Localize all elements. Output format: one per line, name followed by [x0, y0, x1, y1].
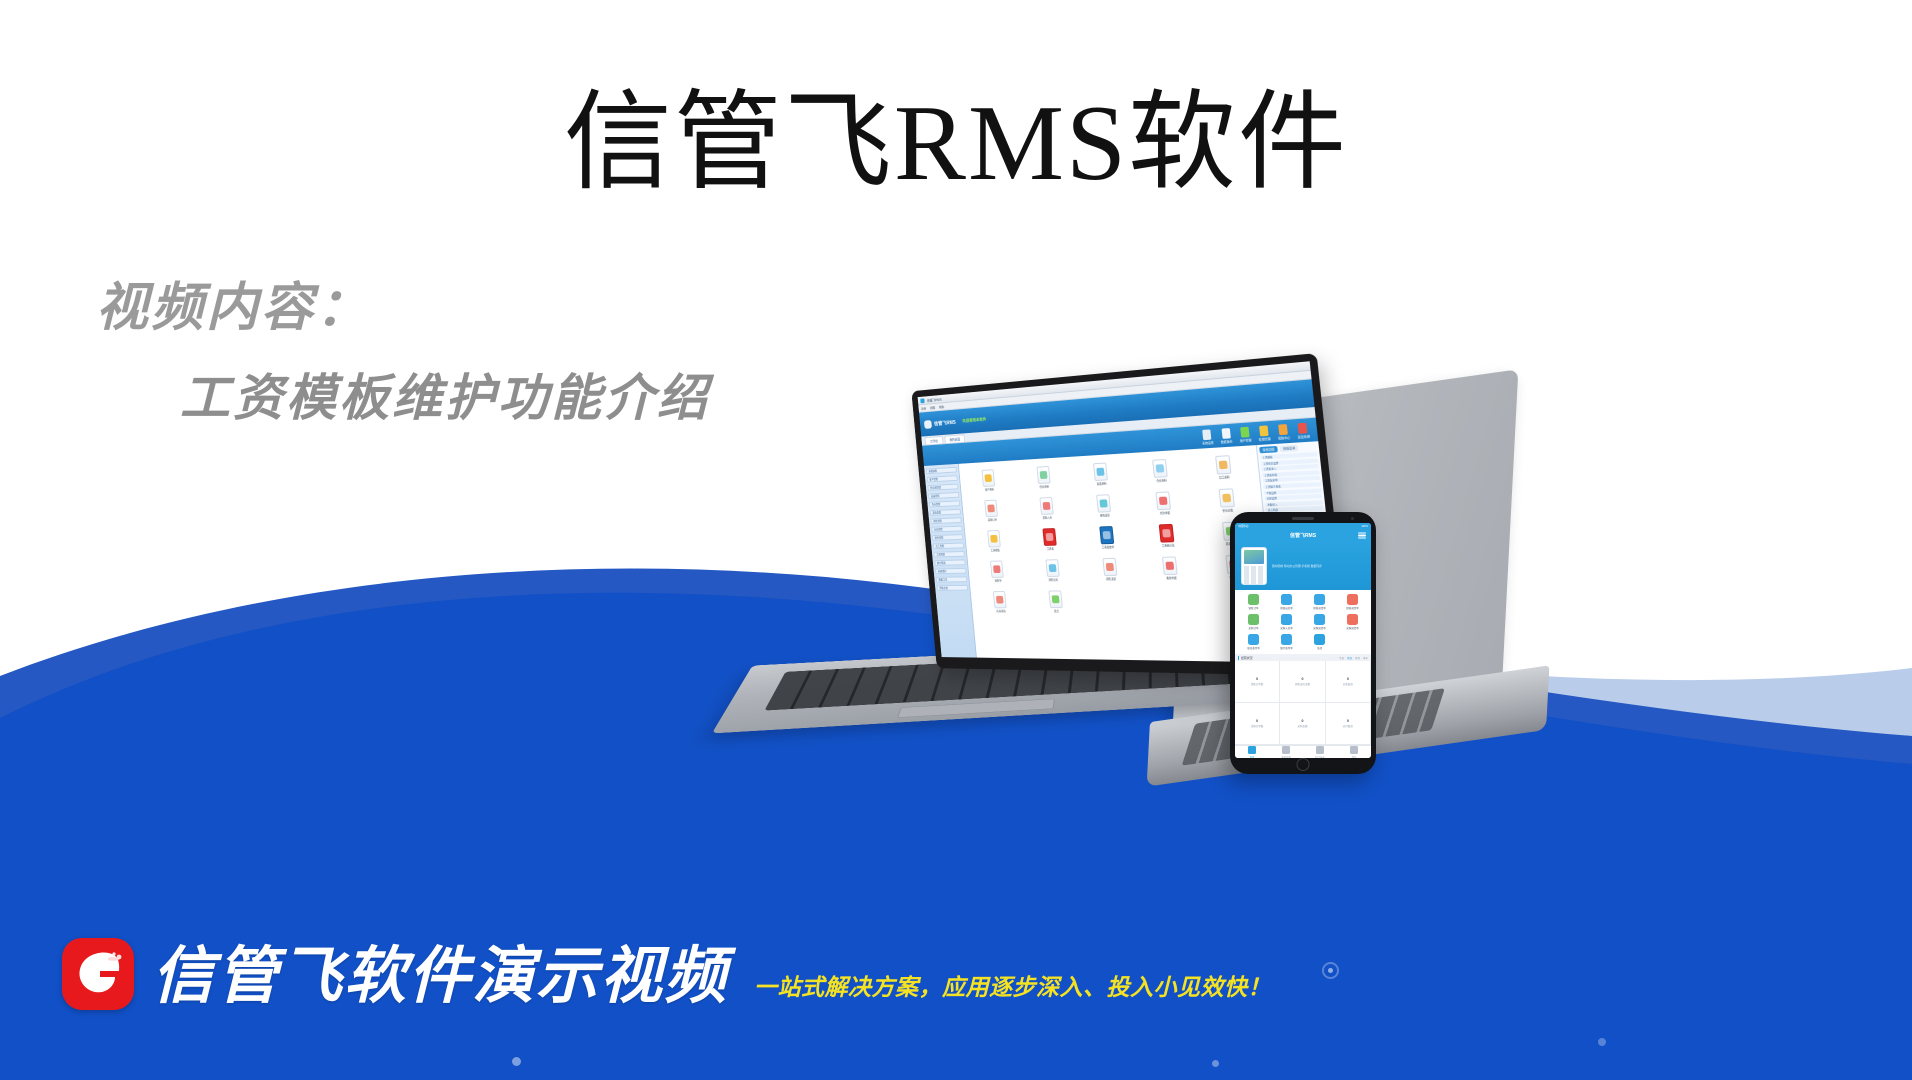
home-icon: [1248, 746, 1256, 754]
bank-icon: [1281, 634, 1292, 645]
filter-option[interactable]: 本年: [1363, 656, 1368, 660]
footer-brand-bar: 信管飞软件演示视频 一站式解决方案，应用逐步深入、投入小见效快！: [62, 938, 1271, 1018]
gear-icon: [1202, 429, 1211, 440]
toolbar-button[interactable]: 退出系统: [1296, 422, 1310, 439]
phone-shortcut[interactable]: 采购退货单: [1336, 614, 1369, 630]
shortcut-label: 全部: [1317, 646, 1322, 650]
app-grid-icon[interactable]: 工资发放单: [1079, 525, 1136, 550]
app-grid-icon[interactable]: 仓库资料: [1131, 458, 1191, 484]
banner-phone-illustration-icon: [1241, 547, 1267, 585]
nav-item-profile[interactable]: 我的: [1337, 746, 1371, 759]
purchase-order-icon: [1248, 614, 1259, 625]
phone-shortcut[interactable]: 销售出库单: [1270, 594, 1303, 610]
app-logo-icon: [924, 420, 932, 429]
chart-bar-icon: [1316, 746, 1324, 754]
stat-label: 销售订单数: [1251, 682, 1264, 686]
toolbar-label: 数据备份: [1221, 439, 1233, 444]
sidebar-item[interactable]: 基础资料: [926, 467, 957, 474]
sidebar-item[interactable]: 商品管理: [928, 492, 959, 499]
phone-stats-grid: 0销售订单数 0销售出库金额 0应收账款 0采购订单数 0采购金额 0应付账款: [1235, 661, 1371, 745]
stat-value: 0: [1256, 719, 1258, 723]
phone-screen: 中国移动 100% 信管飞RMS 随时随地 移动办公管理 手机端 数据同步 销售…: [1235, 523, 1371, 758]
shortcut-label: 销售退货单: [1313, 606, 1326, 610]
app-grid-icon[interactable]: 工资模板: [968, 529, 1020, 552]
phone-banner: 随时随地 移动办公管理 手机端 数据同步: [1235, 542, 1371, 590]
grid-all-icon: [1314, 634, 1325, 645]
shortcut-label: 采购订单: [1248, 626, 1258, 630]
stat-cell[interactable]: 0应付账款: [1326, 703, 1371, 745]
sidebar-item[interactable]: 销售管理: [930, 517, 961, 524]
user-icon: [1350, 746, 1358, 754]
filter-option-active[interactable]: 本周: [1347, 656, 1352, 660]
app-grid-icon[interactable]: 商品资料: [1072, 461, 1129, 487]
sidebar-item[interactable]: 帮助文档: [937, 585, 968, 591]
shortcut-label: 采购退货单: [1346, 626, 1359, 630]
sidebar-item[interactable]: 仓库管理: [929, 500, 960, 507]
return-icon: [1314, 594, 1325, 605]
sidebar-item[interactable]: 工资管理: [934, 551, 965, 557]
grid-icon-label: 采购入库: [1042, 515, 1052, 519]
grid-icon-label: 采购订单: [988, 518, 997, 522]
app-grid-icon[interactable]: 采购订单: [966, 499, 1018, 523]
video-content-item: 工资模板维护功能介绍: [180, 367, 710, 430]
app-grid-icon[interactable]: 库存查询: [974, 591, 1027, 613]
shortcut-label: 现金收付单: [1247, 646, 1260, 650]
app-tab[interactable]: 我的桌面: [944, 434, 965, 443]
nav-label: 统计报表: [1315, 755, 1325, 759]
documents-icon: [1282, 746, 1290, 754]
app-brand-name: 信管飞RMS: [934, 419, 956, 427]
exit-icon: [1298, 422, 1308, 433]
toolbar-label: 退出系统: [1297, 434, 1310, 439]
toolbar-button[interactable]: 系统设置: [1201, 429, 1214, 445]
smartphone-device: 中国移动 100% 信管飞RMS 随时随地 移动办公管理 手机端 数据同步 销售…: [1230, 512, 1376, 774]
grid-icon-label: 采购退货: [1100, 513, 1110, 517]
phone-shortcut-grid: 销售订单 销售出库单 销售退货单 销售退货单 采购订单 采购入库单 采购退货单 …: [1235, 590, 1371, 654]
shortcut-label: 销售订单: [1248, 606, 1258, 610]
grid-icon-label: 销售出库: [1048, 578, 1058, 582]
app-menu-item[interactable]: 系统: [921, 406, 926, 410]
sidebar-item[interactable]: 员工管理: [933, 543, 964, 550]
app-tab[interactable]: 工作台: [925, 436, 943, 445]
app-grid-icon[interactable]: 收款单据: [1141, 556, 1201, 581]
stat-label: 销售出库金额: [1295, 682, 1310, 686]
grid-icon-label: 工资统计表: [1162, 543, 1175, 547]
grid-icon-label: 仓库资料: [1156, 478, 1167, 483]
grid-icon-label: 库存查询: [996, 609, 1005, 613]
users-icon: [1240, 426, 1249, 437]
refund-icon: [1347, 594, 1358, 605]
stat-value: 0: [1347, 677, 1349, 681]
grid-icon-label: 供应对账: [1222, 508, 1233, 513]
sidebar-item[interactable]: 统计报表: [934, 559, 965, 565]
cash-icon: [1248, 634, 1259, 645]
shortcut-label: 采购入库单: [1280, 626, 1293, 630]
toolbar-label: 权限管理: [1259, 436, 1271, 441]
stat-value: 0: [1301, 719, 1303, 723]
sidebar-item[interactable]: 数据工具: [936, 576, 967, 582]
grid-icon-label: 付款单据: [1160, 511, 1171, 515]
phone-shortcut[interactable]: 银行收付单: [1270, 634, 1303, 650]
stat-label: 应收账款: [1343, 682, 1353, 686]
toolbar-label: 系统设置: [1202, 440, 1214, 445]
right-panel-tab[interactable]: 快捷菜单: [1280, 445, 1299, 452]
app-grid-icon[interactable]: 销售退货: [1082, 557, 1139, 581]
filter-option[interactable]: 今日: [1339, 656, 1344, 660]
nav-item-reports[interactable]: 统计报表: [1303, 746, 1337, 759]
sidebar-item[interactable]: 供应商管理: [927, 484, 958, 491]
app-grid-icon[interactable]: 销售单: [971, 560, 1024, 583]
slide-title: 信管飞RMS软件: [0, 84, 1912, 205]
brand-title: 信管飞软件演示视频: [152, 946, 728, 1008]
app-grid-icon[interactable]: 员工资料: [1192, 454, 1255, 481]
section-filters[interactable]: 今日 本周 本月 本年: [1339, 656, 1368, 660]
app-grid-icon[interactable]: 客户资料: [963, 468, 1015, 493]
inbound-icon: [1281, 614, 1292, 625]
help-icon: [1278, 423, 1288, 434]
toolbar-button[interactable]: 数据备份: [1219, 427, 1232, 443]
brand-bird-logo-icon: [62, 938, 134, 1010]
phone-app-header: 信管飞RMS: [1235, 529, 1371, 542]
nav-item-documents[interactable]: 单据管理: [1269, 746, 1303, 759]
stat-value: 0: [1256, 677, 1258, 681]
phone-bottom-nav[interactable]: 首页 单据管理 统计报表 我的: [1235, 745, 1371, 758]
app-grid-icon[interactable]: 工资统计表: [1137, 523, 1197, 548]
nav-label: 单据管理: [1281, 755, 1291, 759]
toolbar-label: 用户管理: [1239, 438, 1251, 443]
stat-cell[interactable]: 0销售出库金额: [1280, 661, 1325, 703]
app-grid-icon[interactable]: 工资表: [1022, 527, 1077, 551]
sidebar-item[interactable]: 财务管理: [932, 534, 963, 541]
phone-section-header: 经营状况 今日 本周 本月 本年: [1235, 654, 1371, 661]
app-grid-icon[interactable]: 供应商料: [1016, 465, 1071, 490]
grid-icon-label: 供应商料: [1039, 484, 1049, 488]
shortcut-label: 银行收付单: [1280, 646, 1293, 650]
grid-icon-label: 客户资料: [985, 487, 994, 491]
decorative-dot-icon: [1598, 1038, 1606, 1046]
hamburger-menu-icon[interactable]: [1358, 532, 1366, 539]
section-title: 经营状况: [1238, 656, 1253, 660]
sidebar-item[interactable]: 采购管理: [930, 509, 961, 516]
phone-shortcut[interactable]: 销售退货单: [1336, 594, 1369, 610]
app-grid-icon[interactable]: 供应对账: [1196, 487, 1259, 513]
sidebar-item[interactable]: 系统维护: [935, 568, 966, 574]
toolbar-button[interactable]: 帮助中心: [1277, 423, 1291, 440]
phone-shortcut[interactable]: 采购入库单: [1270, 614, 1303, 630]
phone-shortcut[interactable]: 现金收付单: [1237, 634, 1270, 650]
shortcut-label: 销售退货单: [1346, 606, 1359, 610]
brand-logo-svg: [62, 938, 134, 1010]
phone-speaker: [1292, 517, 1314, 520]
device-mockup-group: 信管飞RMS 系统 视图 帮助 信管飞RMS 欢迎使用本软件 工作台: [880, 372, 1680, 952]
toolbar-button[interactable]: 权限管理: [1257, 425, 1271, 442]
order-icon: [1248, 594, 1259, 605]
app-grid-icon[interactable]: 付款单据: [1134, 490, 1194, 516]
video-content-label: 视频内容：: [96, 276, 710, 341]
phone-camera-icon: [1351, 517, 1354, 520]
presentation-slide: 信管飞RMS软件 视频内容： 工资模板维护功能介绍 信管飞RMS: [0, 0, 1912, 1080]
filter-option[interactable]: 本月: [1355, 656, 1360, 660]
phone-shortcut[interactable]: 采购退货单: [1303, 614, 1336, 630]
app-brand-note: 欢迎使用本软件: [962, 417, 986, 425]
app-menu-item[interactable]: 帮助: [939, 405, 944, 409]
stat-value: 0: [1301, 677, 1303, 681]
shortcut-label: 采购退货单: [1313, 626, 1326, 630]
app-icon-grid: 客户资料 供应商料 商品资料 仓库资料 员工资料 采购订单 采购入库 采购退货 …: [963, 454, 1269, 613]
decorative-dot-icon: [1212, 1060, 1219, 1067]
app-menu-item[interactable]: 视图: [930, 405, 935, 409]
brand-tagline: 一站式解决方案，应用逐步深入、投入小见效快！: [754, 968, 1271, 1002]
grid-icon-label: 工资表: [1047, 547, 1054, 551]
grid-icon-label: 盘点: [1054, 609, 1059, 613]
grid-icon-label: 收款单据: [1166, 576, 1177, 580]
purchase-return-icon: [1314, 614, 1325, 625]
lock-icon: [1259, 425, 1269, 436]
phone-battery: 100%: [1361, 525, 1368, 528]
stat-cell[interactable]: 0采购金额: [1280, 703, 1325, 745]
nav-label: 首页: [1250, 755, 1255, 759]
stat-cell[interactable]: 0应收账款: [1326, 661, 1371, 703]
purchase-refund-icon: [1347, 614, 1358, 625]
backup-icon: [1221, 428, 1230, 439]
app-grid-icon[interactable]: 盘点: [1028, 590, 1083, 613]
stat-label: 采购订单数: [1251, 724, 1264, 728]
grid-icon-label: 工资发放单: [1102, 545, 1115, 549]
stat-cell[interactable]: 0销售订单数: [1235, 661, 1280, 703]
shortcut-label: 销售出库单: [1280, 606, 1293, 610]
nav-label: 我的: [1352, 755, 1357, 759]
grid-icon-label: 销售单: [995, 579, 1002, 583]
grid-icon-label: 商品资料: [1097, 481, 1107, 485]
grid-icon-label: 工资模板: [991, 548, 1000, 552]
stat-label: 采购金额: [1297, 724, 1307, 728]
decorative-dot-icon: [512, 1057, 521, 1066]
phone-shortcut[interactable]: 采购订单: [1237, 614, 1270, 630]
phone-shortcut[interactable]: 全部: [1303, 634, 1336, 650]
phone-carrier: 中国移动: [1238, 524, 1248, 528]
video-content-block: 视频内容： 工资模板维护功能介绍: [96, 276, 710, 430]
stat-cell[interactable]: 0采购订单数: [1235, 703, 1280, 745]
right-panel-tab[interactable]: 常用功能: [1259, 446, 1278, 453]
app-grid-icon[interactable]: 采购入库: [1019, 496, 1074, 521]
phone-shortcut[interactable]: 销售退货单: [1303, 594, 1336, 610]
sidebar-item[interactable]: 库存管理: [931, 526, 962, 533]
toolbar-label: 帮助中心: [1278, 435, 1290, 440]
banner-text: 随时随地 移动办公管理 手机端 数据同步: [1272, 564, 1322, 568]
app-grid-icon[interactable]: 销售出库: [1025, 559, 1080, 582]
app-window-title: 信管飞RMS: [927, 396, 942, 402]
toolbar-button[interactable]: 用户管理: [1238, 426, 1251, 442]
sidebar-item[interactable]: 客户管理: [927, 475, 958, 482]
stat-label: 应付账款: [1343, 724, 1353, 728]
app-window-icon: [920, 398, 924, 403]
decorative-ring-icon: [1322, 962, 1339, 979]
phone-shortcut[interactable]: 销售订单: [1237, 594, 1270, 610]
phone-home-button[interactable]: [1297, 758, 1310, 771]
phone-app-title: 信管飞RMS: [1290, 532, 1316, 539]
grid-icon-label: 员工资料: [1219, 475, 1230, 480]
app-grid-icon[interactable]: 采购退货: [1076, 493, 1133, 518]
outbound-icon: [1281, 594, 1292, 605]
stat-value: 0: [1347, 719, 1349, 723]
nav-item-home[interactable]: 首页: [1235, 746, 1269, 759]
grid-icon-label: 销售退货: [1106, 577, 1116, 581]
